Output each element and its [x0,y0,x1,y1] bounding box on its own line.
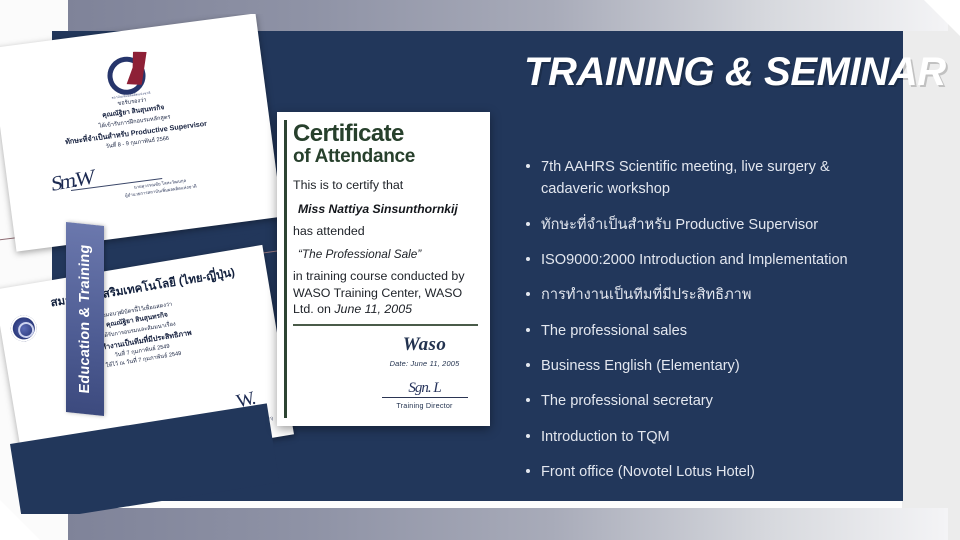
list-item: Introduction to TQM [524,426,894,448]
certificate-heading-secondary: of Attendance [293,147,482,168]
certificate-of-attendance[interactable]: Certificate of Attendance This is to cer… [277,112,490,426]
certificate-top-left-content: สถาบันเพิ่มผลผลิตแห่งชาติ ขอรับรองว่า คุ… [0,14,282,252]
training-seminar-list: 7th AAHRS Scientific meeting, live surge… [524,156,894,496]
page-title: TRAINING & SEMINAR [524,50,946,95]
certificate-body: Certificate of Attendance This is to cer… [293,122,482,317]
director-signature: Sgn. L [367,380,482,397]
certificate-divider [293,324,478,326]
certificate-heading-primary: Certificate [293,122,482,147]
director-role: Training Director [367,401,482,410]
education-training-side-tab[interactable]: Education & Training [66,222,104,416]
certificate-date: Date: June 11, 2005 [367,359,482,368]
education-training-label: Education & Training [77,244,93,395]
list-item: Business English (Elementary) [524,355,894,377]
list-item: Front office (Novotel Lotus Hotel) [524,461,894,483]
director-signature-rule [382,397,468,398]
certificate-footer: Waso Date: June 11, 2005 Sgn. L Training… [367,334,482,410]
conducted-line-3: Ltd. on June 11, 2005 [293,301,482,317]
certificates-collage: สถาบันเพิ่มผลผลิตแห่งชาติ ขอรับรองว่า คุ… [0,14,300,514]
conducted-line-2: WASO Training Center, WASO [293,285,482,301]
conducted-prefix: Ltd. on [293,302,331,316]
slide-root: สถาบันเพิ่มผลผลิตแห่งชาติ ขอรับรองว่า คุ… [0,0,960,540]
list-item: ทักษะที่จำเป็นสำหรับ Productive Supervis… [524,214,894,236]
certificate-attended-label: has attended [293,222,482,240]
conducted-line-1: in training course conducted by [293,268,482,284]
certificate-left-rule [284,120,287,418]
certificate-recipient: Miss Nattiya Sinsunthornkij [298,202,482,216]
top-right-corner-cut [924,0,960,36]
list-item: The professional sales [524,320,894,342]
list-item: 7th AAHRS Scientific meeting, live surge… [524,156,894,200]
list-item: การทำงานเป็นทีมที่มีประสิทธิภาพ [524,284,894,306]
certificate-top-left[interactable]: สถาบันเพิ่มผลผลิตแห่งชาติ ขอรับรองว่า คุ… [0,14,282,252]
conducted-date: June 11, 2005 [334,302,412,316]
list-item: ISO9000:2000 Introduction and Implementa… [524,249,894,271]
bottom-left-corner-cut [0,500,40,540]
list-item: The professional secretary [524,390,894,412]
ftpi-logo-icon [103,50,154,96]
certificate-conducted-block: in training course conducted by WASO Tra… [293,268,482,317]
certificate-course: “The Professional Sale” [298,247,482,261]
waso-logo: Waso [367,334,482,356]
certificate-intro: This is to certify that [293,176,482,194]
